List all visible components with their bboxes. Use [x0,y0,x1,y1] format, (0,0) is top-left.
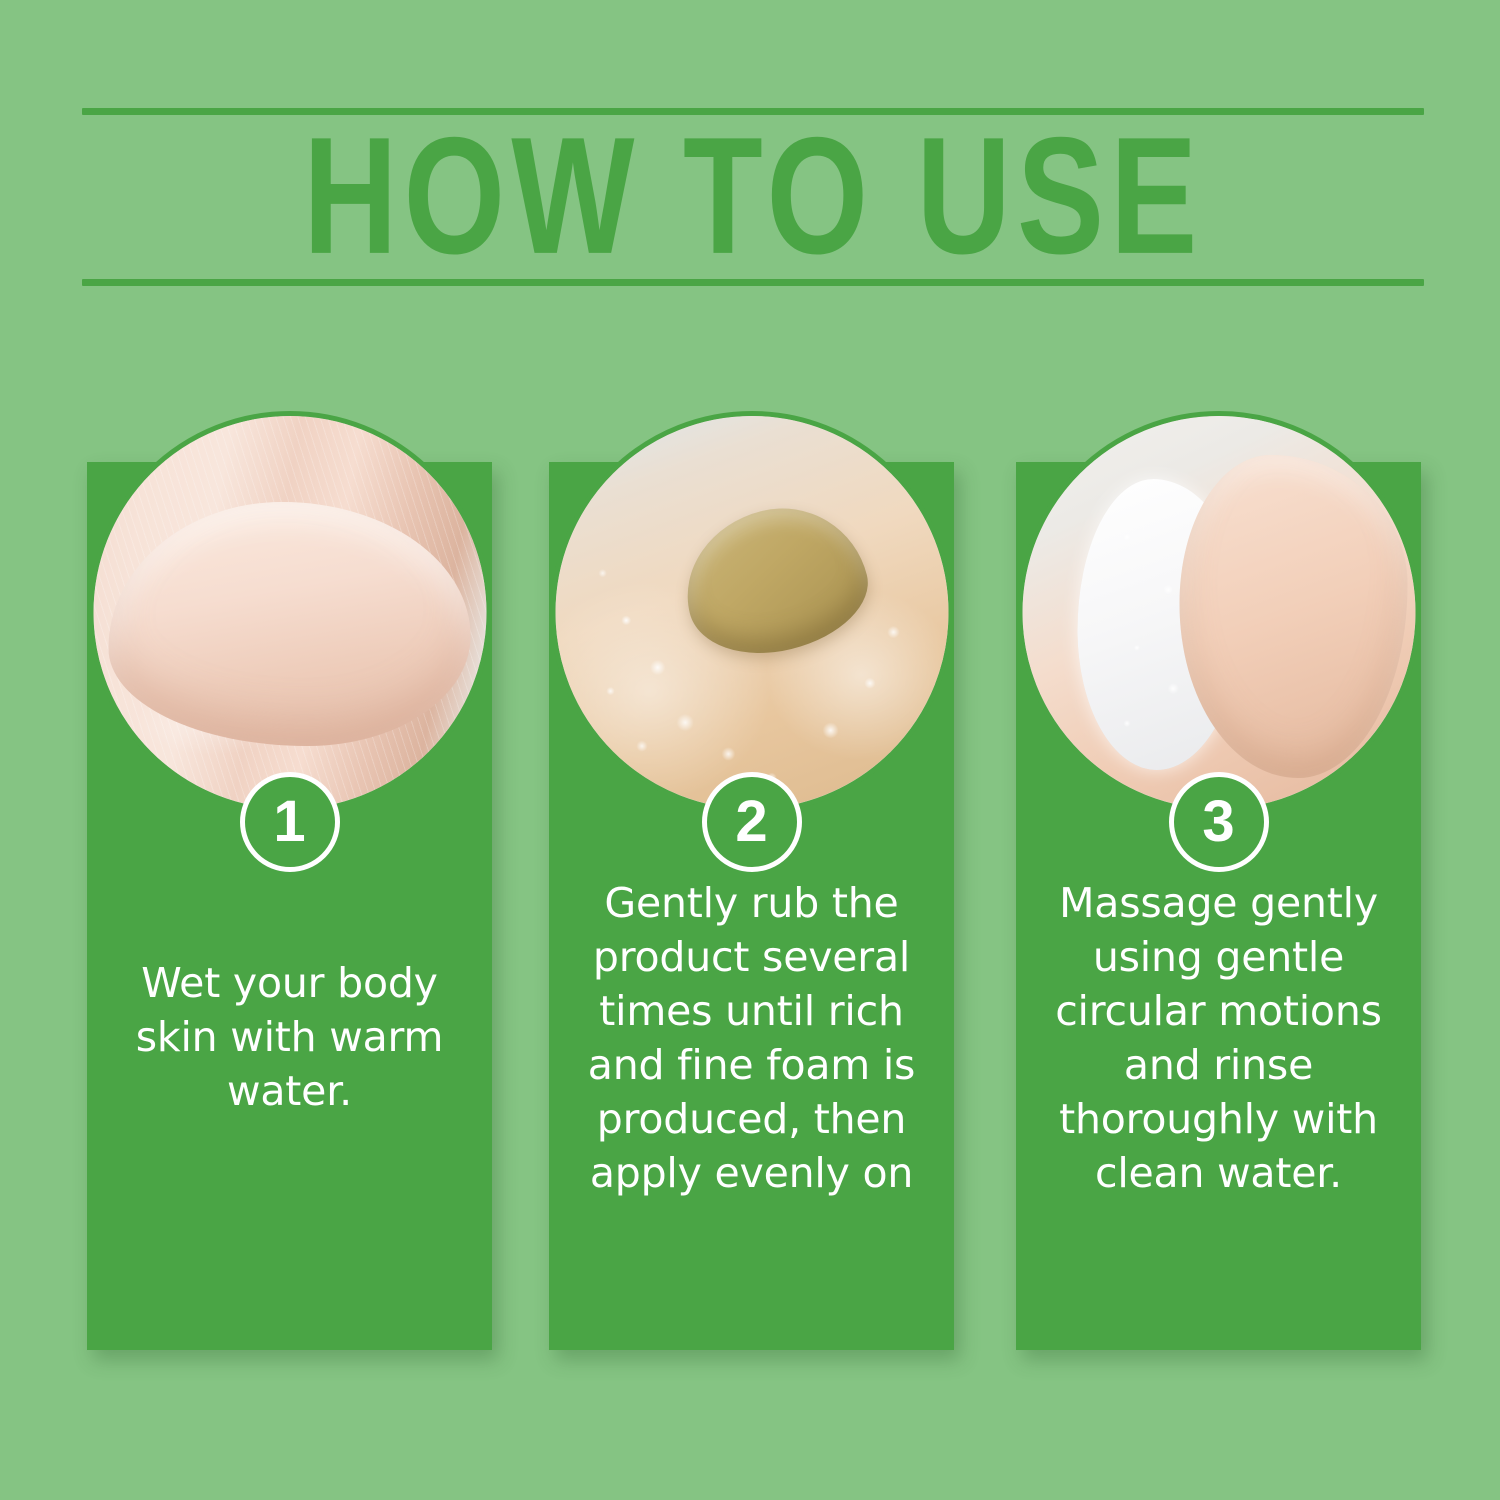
step-badge-1: 1 [240,772,340,872]
step-text-1: Wet your body skin with warm water. [97,956,482,1118]
steps-container: 1 Wet your body skin with warm water. 2 … [0,0,1500,1500]
step-card-2[interactable]: 2 Gently rub the product several times u… [549,462,954,1350]
hand-washing-under-shower-photo [93,416,486,809]
step-badge-3: 3 [1169,772,1269,872]
step-photo-1 [88,411,491,814]
hand-massaging-foam-on-skin-photo [1022,416,1415,809]
hands-rubbing-soap-foam-photo [555,416,948,809]
step-photo-3 [1017,411,1420,814]
step-card-3[interactable]: 3 Massage gently using gentle circular m… [1016,462,1421,1350]
step-badge-2: 2 [702,772,802,872]
step-text-3: Massage gently using gentle circular mot… [1026,876,1411,1200]
soap-bar-icon [670,491,880,672]
step-card-1[interactable]: 1 Wet your body skin with warm water. [87,462,492,1350]
step-text-2: Gently rub the product several times unt… [559,876,944,1200]
step-photo-2 [550,411,953,814]
